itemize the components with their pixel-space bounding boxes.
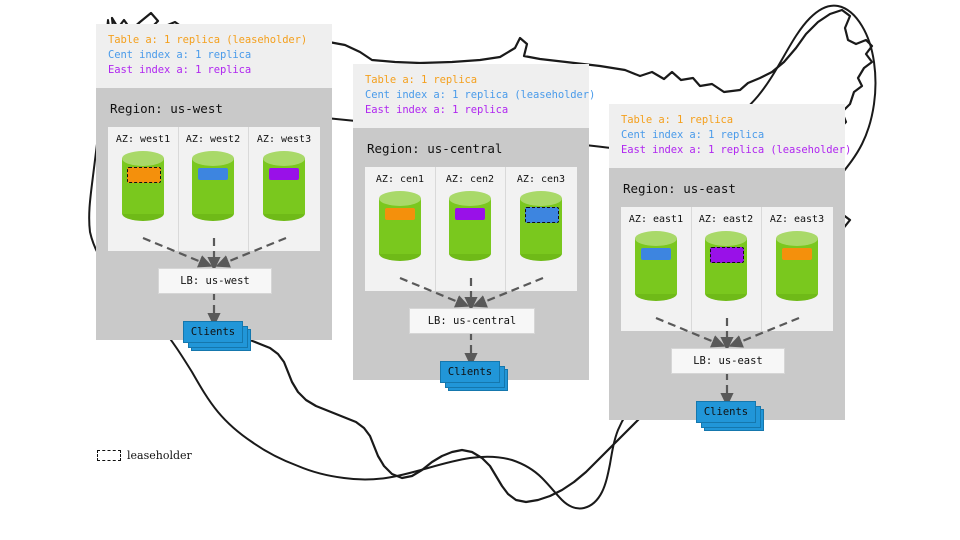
clients-box[interactable]: Clients [183,321,243,343]
cylinder-top [776,231,818,246]
cylinder-top [520,191,562,206]
replica-legend-us-central: Table a: 1 replica Cent index a: 1 repli… [353,64,589,128]
clients-us-west[interactable]: Clients [183,321,251,353]
az-label-west1: AZ: west1 [116,134,170,145]
cylinder-top [192,151,234,166]
region-panel-us-east: Table a: 1 replica Cent index a: 1 repli… [609,104,845,420]
region-title-us-central: Region: us-central [353,128,589,167]
replica-band-east-index-a [455,208,485,220]
node-cylinder-west1[interactable] [122,151,164,221]
node-cylinder-east3[interactable] [776,231,818,301]
replica-line-table: Table a: 1 replica [365,73,577,88]
replica-band-table-a-leaseholder [127,167,161,183]
az-label-cen1: AZ: cen1 [376,174,424,185]
replica-line-east: East index a: 1 replica [108,63,320,78]
cylinder-body [192,158,234,214]
diagram-canvas: Table a: 1 replica (leaseholder) Cent in… [0,0,960,540]
clients-label: Clients [448,366,492,378]
az-strip-us-west: AZ: west1 AZ: west2 [108,127,320,251]
node-cylinder-cen3[interactable] [520,191,562,261]
cylinder-body [635,238,677,294]
replica-line-cent: Cent index a: 1 replica [621,128,833,143]
az-cell-west3[interactable]: AZ: west3 [248,127,320,251]
clients-us-central[interactable]: Clients [440,361,508,393]
az-cell-west1[interactable]: AZ: west1 [108,127,178,251]
az-label-east2: AZ: east2 [699,214,753,225]
az-strip-us-east: AZ: east1 AZ: east2 [621,207,833,331]
clients-label: Clients [704,406,748,418]
lb-label: LB: us-central [428,315,517,327]
load-balancer-us-central[interactable]: LB: us-central [409,308,535,334]
cylinder-body [263,158,305,214]
clients-box[interactable]: Clients [440,361,500,383]
replica-line-east: East index a: 1 replica (leaseholder) [621,143,833,158]
replica-line-table: Table a: 1 replica [621,113,833,128]
region-body-us-west: Region: us-west AZ: west1 AZ: west2 [96,88,332,340]
region-panel-us-central: Table a: 1 replica Cent index a: 1 repli… [353,64,589,380]
node-cylinder-cen2[interactable] [449,191,491,261]
load-balancer-us-east[interactable]: LB: us-east [671,348,785,374]
clients-box[interactable]: Clients [696,401,756,423]
az-label-cen3: AZ: cen3 [517,174,565,185]
az-label-west3: AZ: west3 [257,134,311,145]
cylinder-body [776,238,818,294]
replica-line-east: East index a: 1 replica [365,103,577,118]
lb-label: LB: us-east [693,355,763,367]
node-cylinder-west3[interactable] [263,151,305,221]
region-body-us-east: Region: us-east AZ: east1 AZ: east2 [609,168,845,420]
cylinder-top [379,191,421,206]
replica-legend-us-west: Table a: 1 replica (leaseholder) Cent in… [96,24,332,88]
az-cell-cen1[interactable]: AZ: cen1 [365,167,435,291]
az-cell-east3[interactable]: AZ: east3 [761,207,833,331]
replica-line-table: Table a: 1 replica (leaseholder) [108,33,320,48]
az-cell-west2[interactable]: AZ: west2 [178,127,248,251]
az-label-west2: AZ: west2 [186,134,240,145]
node-cylinder-cen1[interactable] [379,191,421,261]
region-title-us-east: Region: us-east [609,168,845,207]
cylinder-top [263,151,305,166]
lb-label: LB: us-west [180,275,250,287]
cylinder-top [449,191,491,206]
cylinder-body [449,198,491,254]
cylinder-top [122,151,164,166]
az-label-cen2: AZ: cen2 [446,174,494,185]
replica-line-cent: Cent index a: 1 replica [108,48,320,63]
replica-band-east-index-a [269,168,299,180]
node-cylinder-west2[interactable] [192,151,234,221]
clients-us-east[interactable]: Clients [696,401,764,433]
region-panel-us-west: Table a: 1 replica (leaseholder) Cent in… [96,24,332,340]
clients-label: Clients [191,326,235,338]
cylinder-body [379,198,421,254]
load-balancer-us-west[interactable]: LB: us-west [158,268,272,294]
replica-band-cent-index-a-leaseholder [525,207,559,223]
cylinder-top [705,231,747,246]
replica-band-cent-index-a [198,168,228,180]
replica-band-east-index-a-leaseholder [710,247,744,263]
replica-legend-us-east: Table a: 1 replica Cent index a: 1 repli… [609,104,845,168]
az-strip-us-central: AZ: cen1 AZ: cen2 [365,167,577,291]
replica-band-table-a [385,208,415,220]
leaseholder-legend-label: leaseholder [127,449,192,462]
leaseholder-legend: leaseholder [97,449,192,462]
region-title-us-west: Region: us-west [96,88,332,127]
node-cylinder-east1[interactable] [635,231,677,301]
az-cell-cen3[interactable]: AZ: cen3 [505,167,577,291]
az-label-east1: AZ: east1 [629,214,683,225]
az-cell-cen2[interactable]: AZ: cen2 [435,167,505,291]
replica-band-cent-index-a [641,248,671,260]
node-cylinder-east2[interactable] [705,231,747,301]
leaseholder-swatch-icon [97,450,121,461]
az-cell-east1[interactable]: AZ: east1 [621,207,691,331]
az-label-east3: AZ: east3 [770,214,824,225]
replica-band-table-a [782,248,812,260]
replica-line-cent: Cent index a: 1 replica (leaseholder) [365,88,577,103]
region-body-us-central: Region: us-central AZ: cen1 AZ: cen2 [353,128,589,380]
az-cell-east2[interactable]: AZ: east2 [691,207,761,331]
cylinder-top [635,231,677,246]
